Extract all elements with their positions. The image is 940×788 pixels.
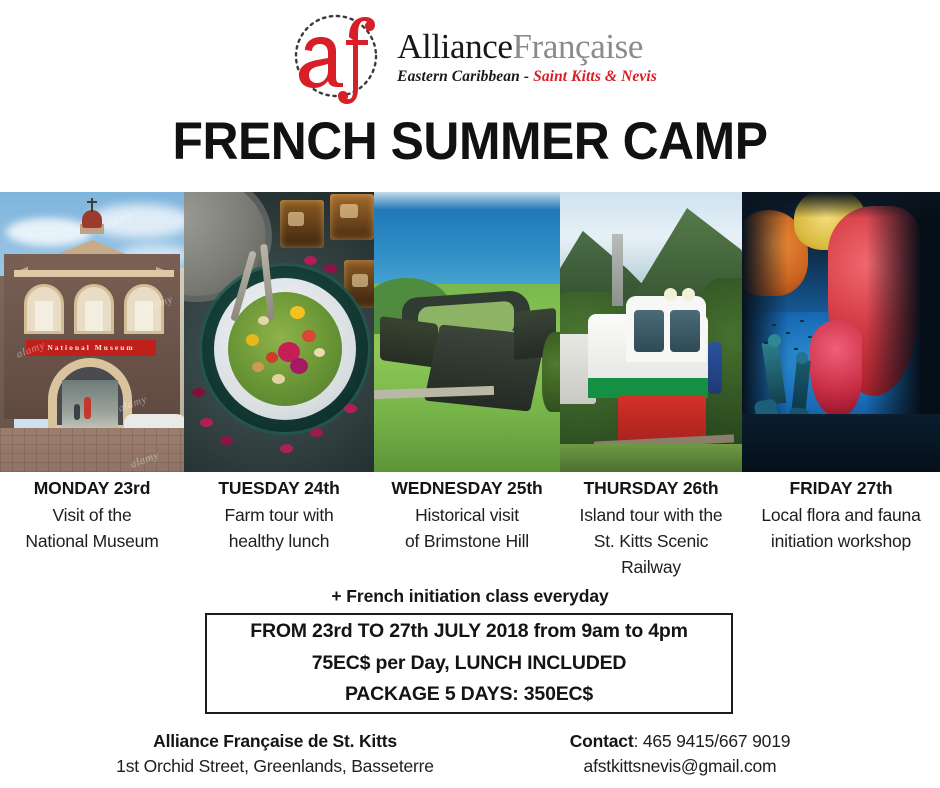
- day-title-tuesday: TUESDAY 24th: [186, 478, 372, 499]
- day-desc-line: Local flora and fauna: [744, 503, 938, 529]
- day-desc-line: healthy lunch: [186, 529, 372, 555]
- museum-sign-text: National Museum: [26, 340, 156, 356]
- price-dates-line: FROM 23rd TO 27th JULY 2018 from 9am to …: [250, 616, 688, 648]
- arched-window: [124, 284, 164, 334]
- footer: Alliance Française de St. Kitts 1st Orch…: [0, 729, 940, 779]
- photo-brimstone-hill: [374, 192, 560, 472]
- arched-window: [24, 284, 64, 334]
- af-monogram-icon: [283, 4, 389, 108]
- day-desc-thursday: Island tour with the St. Kitts Scenic Ra…: [562, 503, 740, 581]
- day-title-friday: FRIDAY 27th: [744, 478, 938, 499]
- museum-cornice: [14, 270, 174, 277]
- pricing-box: FROM 23rd TO 27th JULY 2018 from 9am to …: [205, 613, 733, 714]
- grass-foreground: [560, 444, 742, 472]
- day-column-friday: FRIDAY 27th Local flora and fauna initia…: [742, 478, 940, 581]
- horizon-haze: [374, 192, 560, 210]
- green-salad: [228, 292, 342, 406]
- day-desc-line: National Museum: [2, 529, 182, 555]
- cab-window: [670, 310, 700, 352]
- day-column-tuesday: TUESDAY 24th Farm tour with healthy lunc…: [184, 478, 374, 581]
- day-desc-line: Visit of the: [2, 503, 182, 529]
- photo-scenic-railway: [560, 192, 742, 472]
- day-desc-line: Historical visit: [376, 503, 558, 529]
- footer-email[interactable]: afstkittsnevis@gmail.com: [515, 754, 845, 779]
- day-desc-line: Farm tour with: [186, 503, 372, 529]
- footer-contact-block: Contact: 465 9415/667 9019 afstkittsnevi…: [515, 729, 845, 779]
- logo-name-francaise: Française: [513, 27, 644, 66]
- day-desc-friday: Local flora and fauna initiation worksho…: [744, 503, 938, 555]
- price-daily-line: 75EC$ per Day, LUNCH INCLUDED: [312, 648, 627, 680]
- logo-text-block: AllianceFrançaise Eastern Caribbean - Sa…: [397, 27, 657, 86]
- day-captions-row: MONDAY 23rd Visit of the National Museum…: [0, 478, 940, 581]
- day-title-thursday: THURSDAY 26th: [562, 478, 740, 499]
- brick-plaza: [0, 428, 184, 472]
- photo-strip: National Museum alamy alamy alamy alamy …: [0, 192, 940, 472]
- exhaust-stack: [612, 234, 623, 306]
- arched-window: [74, 284, 114, 334]
- palm-tree: [542, 332, 560, 412]
- logo-name: AllianceFrançaise: [397, 29, 657, 65]
- photo-national-museum: National Museum alamy alamy alamy alamy …: [0, 192, 184, 472]
- fortress-bastion-left: [380, 316, 438, 368]
- cab-window: [634, 310, 664, 352]
- photo-healthy-lunch: [184, 192, 374, 472]
- footer-contact-line: Contact: 465 9415/667 9019: [515, 729, 845, 754]
- day-desc-monday: Visit of the National Museum: [2, 503, 182, 555]
- logo-band: AllianceFrançaise Eastern Caribbean - Sa…: [0, 0, 940, 112]
- day-title-wednesday: WEDNESDAY 25th: [376, 478, 558, 499]
- day-desc-tuesday: Farm tour with healthy lunch: [186, 503, 372, 555]
- day-title-monday: MONDAY 23rd: [2, 478, 182, 499]
- footer-contact-numbers: 465 9415/667 9019: [643, 731, 790, 751]
- footer-address: 1st Orchid Street, Greenlands, Basseterr…: [95, 754, 455, 779]
- headlight: [664, 288, 677, 301]
- day-desc-line: Island tour with the: [562, 503, 740, 529]
- diver-head: [796, 352, 808, 364]
- train-conductor: [708, 342, 722, 394]
- green-livery-band: [588, 378, 708, 398]
- footer-contact-label: Contact: [570, 731, 634, 751]
- logo-subtitle-region: Eastern Caribbean: [397, 68, 520, 85]
- day-column-wednesday: WEDNESDAY 25th Historical visit of Brims…: [374, 478, 560, 581]
- museum-sign: National Museum: [26, 340, 156, 356]
- whisky-glass: [280, 200, 324, 248]
- footer-org-name: Alliance Française de St. Kitts: [95, 729, 455, 754]
- day-desc-line: St. Kitts Scenic: [562, 529, 740, 555]
- french-class-note: + French initiation class everyday: [0, 586, 940, 607]
- day-desc-line: initiation workshop: [744, 529, 938, 555]
- spire-cross: [87, 201, 97, 203]
- photo-scuba-coral: [742, 192, 940, 472]
- logo-subtitle: Eastern Caribbean - Saint Kitts & Nevis: [397, 68, 657, 85]
- pedestrian-figure: [84, 397, 91, 419]
- footer-address-block: Alliance Française de St. Kitts 1st Orch…: [95, 729, 455, 779]
- day-column-monday: MONDAY 23rd Visit of the National Museum: [0, 478, 184, 581]
- logo-name-alliance: Alliance: [397, 27, 512, 66]
- museum-cupola: [82, 210, 102, 228]
- logo-subtitle-separator: -: [524, 68, 529, 85]
- alliance-francaise-logo: AllianceFrançaise Eastern Caribbean - Sa…: [283, 4, 657, 108]
- red-soft-coral: [810, 320, 862, 416]
- pedestrian-figure: [74, 404, 80, 420]
- diver-head: [768, 334, 781, 347]
- headlight: [682, 288, 695, 301]
- day-desc-line: Railway: [562, 555, 740, 581]
- logo-subtitle-island: Saint Kitts & Nevis: [533, 68, 657, 85]
- whisky-glass: [330, 194, 374, 240]
- page-title: FRENCH SUMMER CAMP: [28, 113, 912, 170]
- day-column-thursday: THURSDAY 26th Island tour with the St. K…: [560, 478, 742, 581]
- price-package-line: PACKAGE 5 DAYS: 350EC$: [345, 679, 593, 711]
- day-desc-wednesday: Historical visit of Brimstone Hill: [376, 503, 558, 555]
- reef-floor: [742, 414, 940, 472]
- day-desc-line: of Brimstone Hill: [376, 529, 558, 555]
- reef-shadow: [742, 192, 940, 218]
- poster-root: AllianceFrançaise Eastern Caribbean - Sa…: [0, 0, 940, 788]
